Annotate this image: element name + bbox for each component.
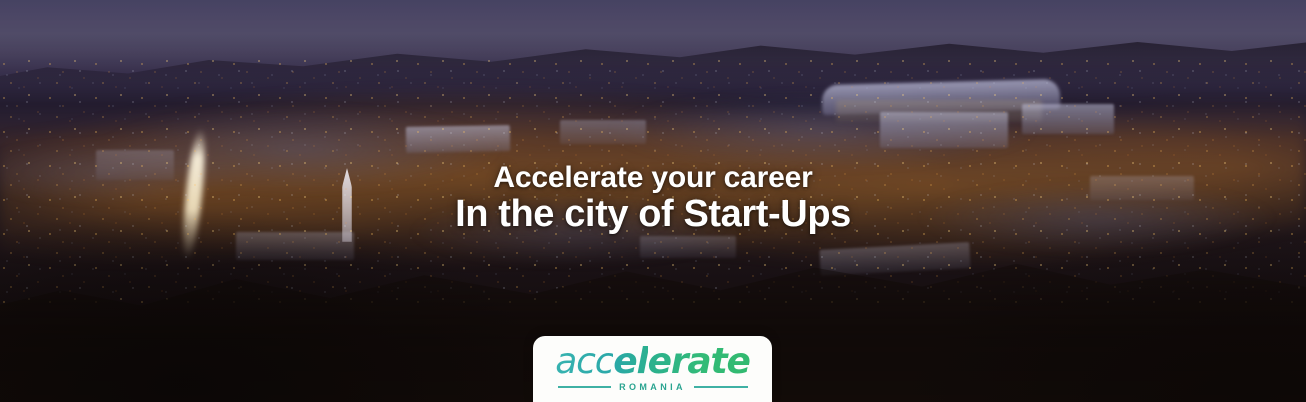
headline-line-2: In the city of Start-Ups [0, 193, 1306, 235]
subtitle-rule-right [694, 386, 748, 388]
wordmark-part-light: acc [555, 341, 613, 382]
accelerate-wordmark: accelerate [555, 343, 750, 381]
headline-line-1: Accelerate your career [0, 160, 1306, 196]
hero-headline: Accelerate your career In the city of St… [0, 160, 1306, 235]
subtitle-rule-left [558, 386, 612, 388]
logo-subtitle: ROMANIA [619, 382, 686, 392]
hero-banner: Accelerate your career In the city of St… [0, 0, 1306, 402]
wordmark-part-bold: erate [648, 341, 750, 382]
logo-subtitle-row: ROMANIA [558, 382, 748, 392]
logo-card[interactable]: accelerate ROMANIA [533, 336, 772, 402]
wordmark-part-mid: el [613, 341, 647, 382]
